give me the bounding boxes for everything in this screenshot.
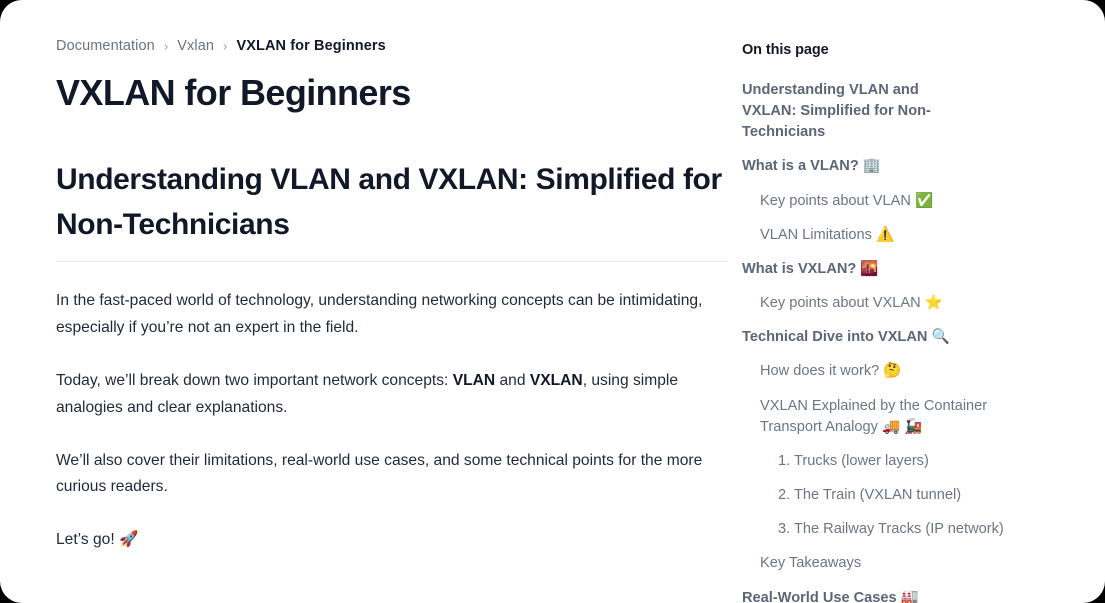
section-divider: [56, 261, 728, 262]
toc-link[interactable]: 1. Trucks (lower layers): [742, 451, 1010, 472]
toc-link[interactable]: 2. The Train (VXLAN tunnel): [742, 485, 1010, 506]
toc-link[interactable]: What is VXLAN? 🌇: [742, 259, 974, 280]
emphasis-term: VXLAN: [530, 372, 583, 389]
page-title: VXLAN for Beginners: [56, 72, 730, 114]
paragraph-text: We’ll also cover their limitations, real…: [56, 452, 702, 496]
article-paragraphs: In the fast-paced world of technology, u…: [56, 288, 730, 554]
breadcrumb-current: VXLAN for Beginners: [236, 38, 385, 54]
toc-link[interactable]: Key points about VXLAN ⭐: [742, 293, 992, 314]
toc-list: Understanding VLAN and VXLAN: Simplified…: [742, 80, 1065, 603]
toc-link[interactable]: Technical Dive into VXLAN 🔍: [742, 327, 974, 348]
breadcrumb-link[interactable]: Vxlan: [177, 38, 214, 54]
toc-link[interactable]: VXLAN Explained by the Container Transpo…: [742, 396, 992, 438]
toc-link[interactable]: Key Takeaways: [742, 553, 992, 574]
toc-link[interactable]: Understanding VLAN and VXLAN: Simplified…: [742, 80, 974, 143]
paragraph: Let’s go! 🚀: [56, 527, 728, 554]
toc-link[interactable]: Key points about VLAN ✅: [742, 191, 992, 212]
breadcrumb: Documentation›Vxlan›VXLAN for Beginners: [56, 38, 730, 54]
documentation-page: Documentation›Vxlan›VXLAN for Beginners …: [0, 0, 1105, 603]
table-of-contents: On this page Understanding VLAN and VXLA…: [730, 0, 1105, 603]
toc-link[interactable]: What is a VLAN? 🏢: [742, 156, 974, 177]
breadcrumb-link[interactable]: Documentation: [56, 38, 155, 54]
toc-link[interactable]: 3. The Railway Tracks (IP network): [742, 519, 1010, 540]
toc-link[interactable]: VLAN Limitations ⚠️: [742, 225, 992, 246]
paragraph-text: and: [495, 372, 530, 389]
paragraph-text: In the fast-paced world of technology, u…: [56, 292, 702, 336]
emphasis-term: VLAN: [453, 372, 495, 389]
breadcrumb-separator-icon: ›: [223, 38, 227, 53]
section-heading: Understanding VLAN and VXLAN: Simplified…: [56, 158, 728, 247]
paragraph: Today, we’ll break down two important ne…: [56, 368, 728, 422]
paragraph: We’ll also cover their limitations, real…: [56, 448, 728, 502]
toc-link[interactable]: Real-World Use Cases 🏭: [742, 588, 974, 603]
breadcrumb-separator-icon: ›: [164, 38, 168, 53]
toc-link[interactable]: How does it work? 🤔: [742, 361, 992, 382]
toc-heading: On this page: [742, 42, 1065, 58]
article-content: Documentation›Vxlan›VXLAN for Beginners …: [0, 0, 730, 580]
paragraph: In the fast-paced world of technology, u…: [56, 288, 728, 342]
paragraph-text: Let’s go! 🚀: [56, 531, 138, 548]
paragraph-text: Today, we’ll break down two important ne…: [56, 372, 453, 389]
